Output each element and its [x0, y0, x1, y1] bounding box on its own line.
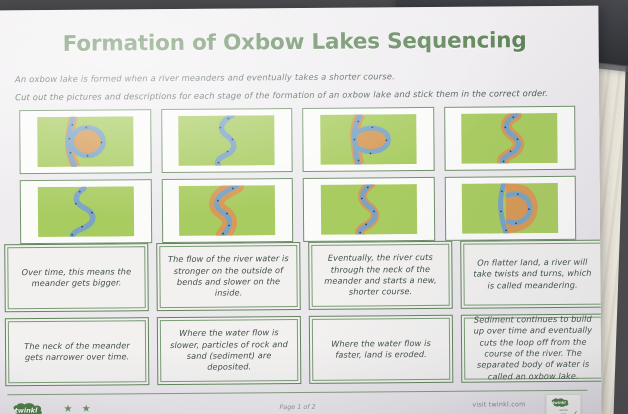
description-card-inner: Where the water flow is slower, particle…	[160, 319, 298, 382]
description-text: Where the water flow is slower, particle…	[166, 327, 292, 374]
description-text: On flatter land, a river will take twist…	[469, 257, 595, 292]
description-text: Over time, this means the meander gets b…	[13, 266, 139, 290]
picture-card[interactable]	[161, 178, 293, 243]
picture-card[interactable]	[161, 108, 293, 173]
description-card-inner: Over time, this means the meander gets b…	[7, 246, 145, 309]
meander-s-plain-icon	[30, 186, 142, 237]
meander-neck-narrow-loop-icon	[312, 114, 424, 165]
description-card[interactable]: The flow of the river water is stronger …	[156, 242, 301, 311]
description-card[interactable]: Eventually, the river cuts through the n…	[308, 241, 453, 310]
picture-card-grid	[19, 106, 576, 244]
description-text: The flow of the river water is stronger …	[165, 253, 291, 300]
meander-s-with-sediment-icon	[453, 113, 565, 164]
description-text: Eventually, the river cuts through the n…	[317, 252, 443, 299]
meander-deep-bends-sediment-icon	[171, 185, 283, 236]
description-text: The neck of the meander gets narrower ov…	[14, 340, 140, 364]
picture-card[interactable]	[302, 107, 434, 172]
twinkl-stamp: twinkl ▬▬▬▬▬ ✓	[545, 394, 581, 414]
description-card-inner: Eventually, the river cuts through the n…	[311, 244, 449, 307]
description-card[interactable]: The neck of the meander gets narrower ov…	[5, 317, 150, 386]
description-card-grid: Over time, this means the meander gets b…	[4, 240, 601, 387]
page-footer: twinkl ★ ★ Page 1 of 2 visit twinkl.com …	[7, 395, 587, 414]
description-card[interactable]: On flatter land, a river will take twist…	[460, 240, 601, 309]
description-card[interactable]: Where the water flow is faster, land is …	[309, 315, 454, 384]
meander-s-thin-sediment-icon	[313, 184, 425, 235]
picture-card[interactable]	[444, 176, 576, 241]
description-card[interactable]: Over time, this means the meander gets b…	[4, 243, 149, 312]
worksheet-sheet: Formation of Oxbow Lakes Sequencing An o…	[0, 6, 602, 414]
description-text: Sediment continues to build up over time…	[470, 313, 597, 382]
twinkl-stamp-logo: twinkl	[550, 397, 576, 408]
meander-gentle-s-icon	[170, 115, 282, 166]
description-card[interactable]: Sediment continues to build up over time…	[461, 314, 602, 383]
picture-card[interactable]	[444, 106, 576, 171]
description-card-inner: Where the water flow is faster, land is …	[312, 318, 450, 381]
description-card-inner: The flow of the river water is stronger …	[159, 245, 297, 308]
intro-line-1: An oxbow lake is formed when a river mea…	[15, 71, 395, 84]
picture-card[interactable]	[19, 109, 151, 174]
oxbow-lake-separated-icon	[29, 116, 141, 167]
description-card-inner: The neck of the meander gets narrower ov…	[8, 320, 146, 383]
page-title: Formation of Oxbow Lakes Sequencing	[0, 28, 599, 58]
description-card-inner: On flatter land, a river will take twist…	[463, 243, 601, 306]
picture-card[interactable]	[303, 177, 435, 242]
meander-large-loop-sediment-icon	[454, 183, 566, 234]
description-card-inner: Sediment continues to build up over time…	[464, 317, 602, 380]
picture-card[interactable]	[20, 179, 152, 244]
description-text: Where the water flow is faster, land is …	[318, 337, 444, 361]
intro-line-2: Cut out the pictures and descriptions fo…	[15, 88, 548, 102]
visit-link[interactable]: visit twinkl.com	[472, 400, 525, 408]
photo-scene: Formation of Oxbow Lakes Sequencing An o…	[0, 0, 628, 414]
description-card[interactable]: Where the water flow is slower, particle…	[157, 316, 302, 385]
svg-text:twinkl: twinkl	[552, 400, 566, 405]
